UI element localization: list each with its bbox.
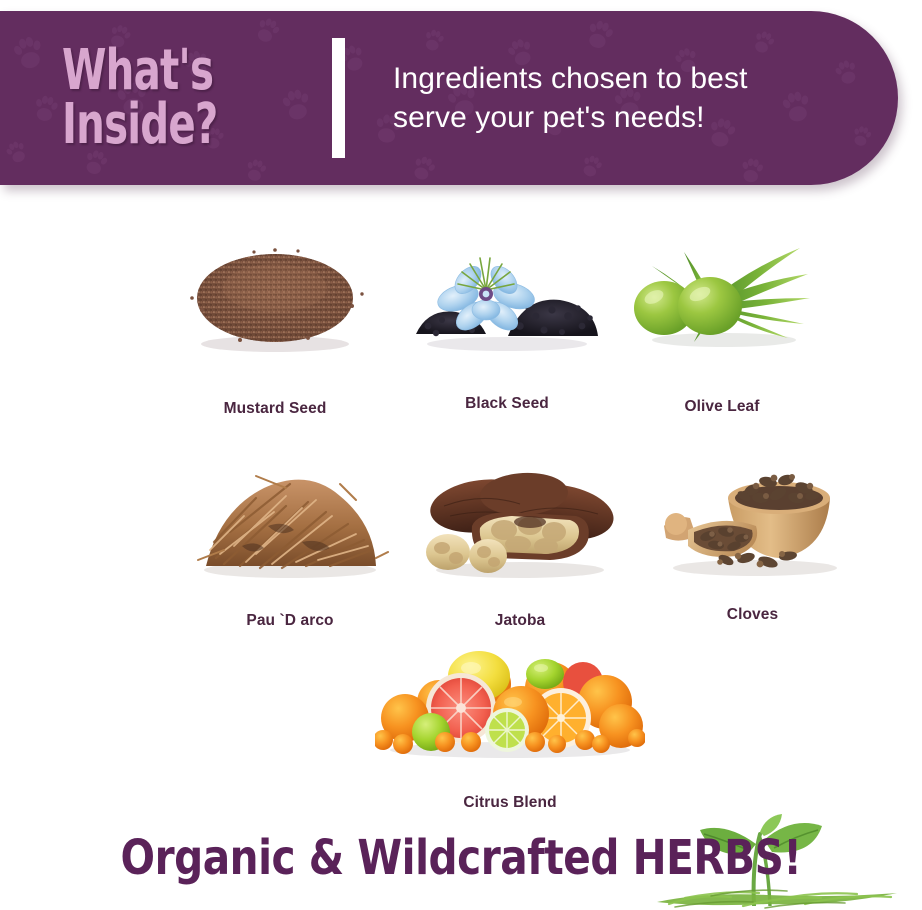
banner-title: What's Inside? bbox=[62, 44, 326, 152]
jatoba-pods-image bbox=[420, 454, 620, 582]
black-seed-nigella-flower-image bbox=[412, 238, 602, 353]
olive-leaf-green-olives-image bbox=[632, 240, 812, 355]
ingredient-label: Cloves bbox=[660, 606, 845, 624]
ingredient-item-black-seed: Black Seed bbox=[412, 238, 602, 413]
banner-subtitle: Ingredients chosen to best serve your pe… bbox=[393, 59, 748, 137]
footer-headline: Organic & Wildcrafted HERBS! bbox=[28, 826, 895, 890]
ingredient-item-olive-leaf: Olive Leaf bbox=[632, 240, 812, 416]
pau-d-arco-bark-shavings-image bbox=[190, 454, 390, 582]
header-banner: What's Inside? Ingredients chosen to bes… bbox=[0, 11, 900, 185]
citrus-fruit-assortment-image bbox=[375, 646, 645, 758]
ingredient-label: Black Seed bbox=[412, 395, 602, 413]
ingredient-item-mustard-seed: Mustard Seed bbox=[180, 236, 370, 418]
ingredient-label: Jatoba bbox=[420, 612, 620, 630]
green-grass-strokes-icon bbox=[655, 884, 900, 910]
ingredient-label: Pau `D arco bbox=[190, 612, 390, 630]
footer-headline-block: Organic & Wildcrafted HERBS! bbox=[0, 826, 922, 906]
mustard-seed-pile-image bbox=[180, 236, 370, 356]
ingredient-label: Citrus Blend bbox=[375, 794, 645, 812]
ingredient-item-cloves: Cloves bbox=[660, 448, 845, 624]
ingredient-item-pau-d-arco: Pau `D arco bbox=[190, 454, 390, 630]
vertical-bar-divider bbox=[332, 38, 345, 158]
ingredient-label: Olive Leaf bbox=[632, 398, 812, 416]
ingredient-item-jatoba: Jatoba bbox=[420, 454, 620, 630]
cloves-wooden-bowl-scoop-image bbox=[660, 448, 845, 578]
ingredient-grid: Mustard Seed bbox=[0, 196, 922, 826]
banner-shape: What's Inside? Ingredients chosen to bes… bbox=[0, 11, 898, 185]
ingredient-label: Mustard Seed bbox=[180, 400, 370, 418]
ingredient-item-citrus-blend: Citrus Blend bbox=[375, 646, 645, 812]
